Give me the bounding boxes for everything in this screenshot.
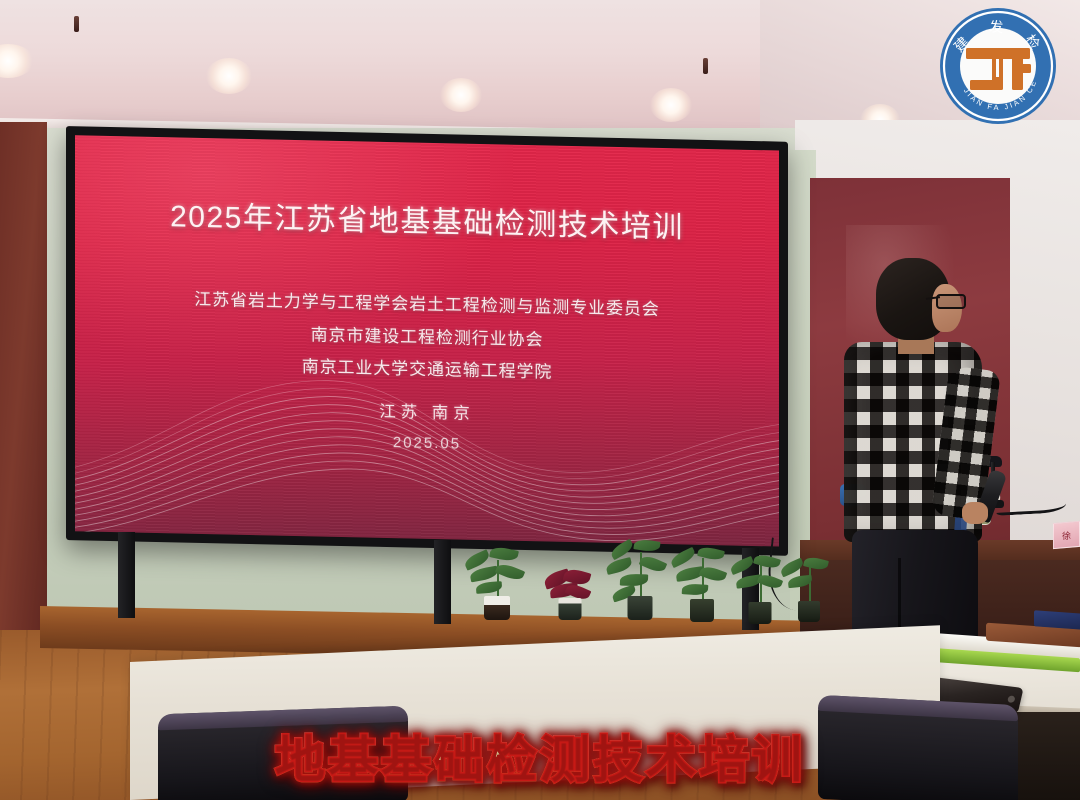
led-screen[interactable]: 2025年江苏省地基基础检测技术培训 江苏省岩土力学与工程学会岩土工程检测与监测… — [66, 126, 788, 556]
presenter-hand — [962, 502, 988, 524]
ceiling-downlight — [650, 88, 692, 122]
plant-pot — [749, 602, 772, 624]
slide-location: 江苏 南京 — [379, 398, 475, 424]
plant-pot — [628, 596, 653, 620]
screen-support-leg — [434, 540, 451, 624]
podium-name-card: 徐 — [1053, 521, 1080, 549]
slide-content: 2025年江苏省地基基础检测技术培训 江苏省岩土力学与工程学会岩土工程检测与监测… — [75, 135, 779, 546]
ceiling-fixture — [703, 58, 708, 74]
potted-plant-6 — [778, 556, 840, 622]
plant-pot — [484, 596, 510, 620]
ceiling-downlight — [206, 58, 252, 94]
logo-svg: 建 发 检 测 JIAN FA JIAN CE — [936, 4, 1060, 128]
slide-organizers: 江苏省岩土力学与工程学会岩土工程检测与监测专业委员会 南京市建设工程检测行业协会… — [194, 284, 659, 392]
conference-room-scene: 2025年江苏省地基基础检测技术培训 江苏省岩土力学与工程学会岩土工程检测与监测… — [0, 0, 1080, 800]
organization-logo-watermark: 建 发 检 测 JIAN FA JIAN CE — [936, 4, 1060, 128]
slide-date: 2025.05 — [393, 434, 461, 452]
ceiling-downlight — [440, 78, 482, 112]
presenter — [836, 258, 1006, 668]
left-wood-panel — [0, 122, 47, 662]
screen-display-surface: 2025年江苏省地基基础检测技术培训 江苏省岩土力学与工程学会岩土工程检测与监测… — [75, 135, 779, 546]
glasses-icon — [936, 294, 966, 309]
slide-title: 2025年江苏省地基基础检测技术培训 — [170, 191, 684, 246]
potted-plant-1 — [462, 548, 532, 620]
screen-support-leg — [118, 532, 135, 618]
potted-plant-2 — [540, 570, 600, 620]
plant-pot — [798, 601, 820, 622]
podium-name-card-text: 徐 — [1054, 522, 1079, 550]
plant-pot — [559, 598, 582, 620]
logo-monogram-notch — [996, 59, 999, 77]
plant-pot — [690, 599, 714, 622]
ceiling-fixture — [74, 16, 79, 32]
video-caption: 地基基础检测技术培训 — [0, 730, 1080, 791]
